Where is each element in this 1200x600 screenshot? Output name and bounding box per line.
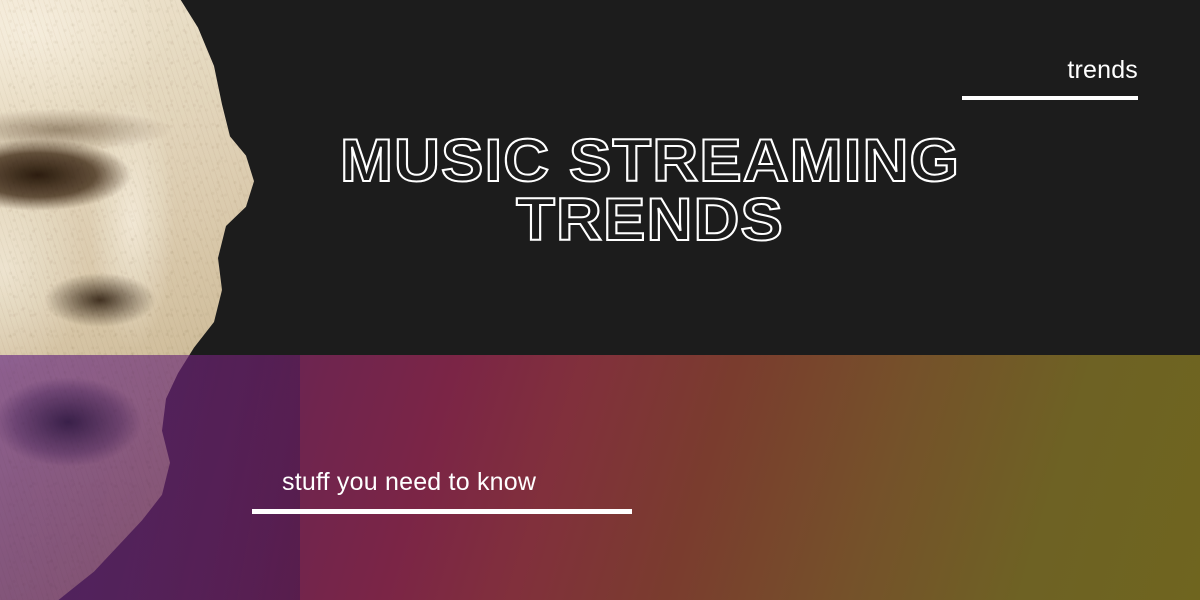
subtitle: stuff you need to know (252, 470, 632, 514)
headline-line-1: MUSIC STREAMING (279, 132, 1021, 191)
kicker-underline (962, 96, 1138, 100)
page-title: MUSIC STREAMING TRENDS (300, 132, 1000, 250)
poster-canvas: trends MUSIC STREAMING TRENDS stuff you … (0, 0, 1200, 600)
subtitle-underline (252, 509, 632, 514)
kicker-label: trends (918, 58, 1138, 83)
subtitle-label: stuff you need to know (252, 470, 632, 495)
kicker: trends (918, 58, 1138, 100)
headline-line-2: TRENDS (279, 191, 1021, 250)
